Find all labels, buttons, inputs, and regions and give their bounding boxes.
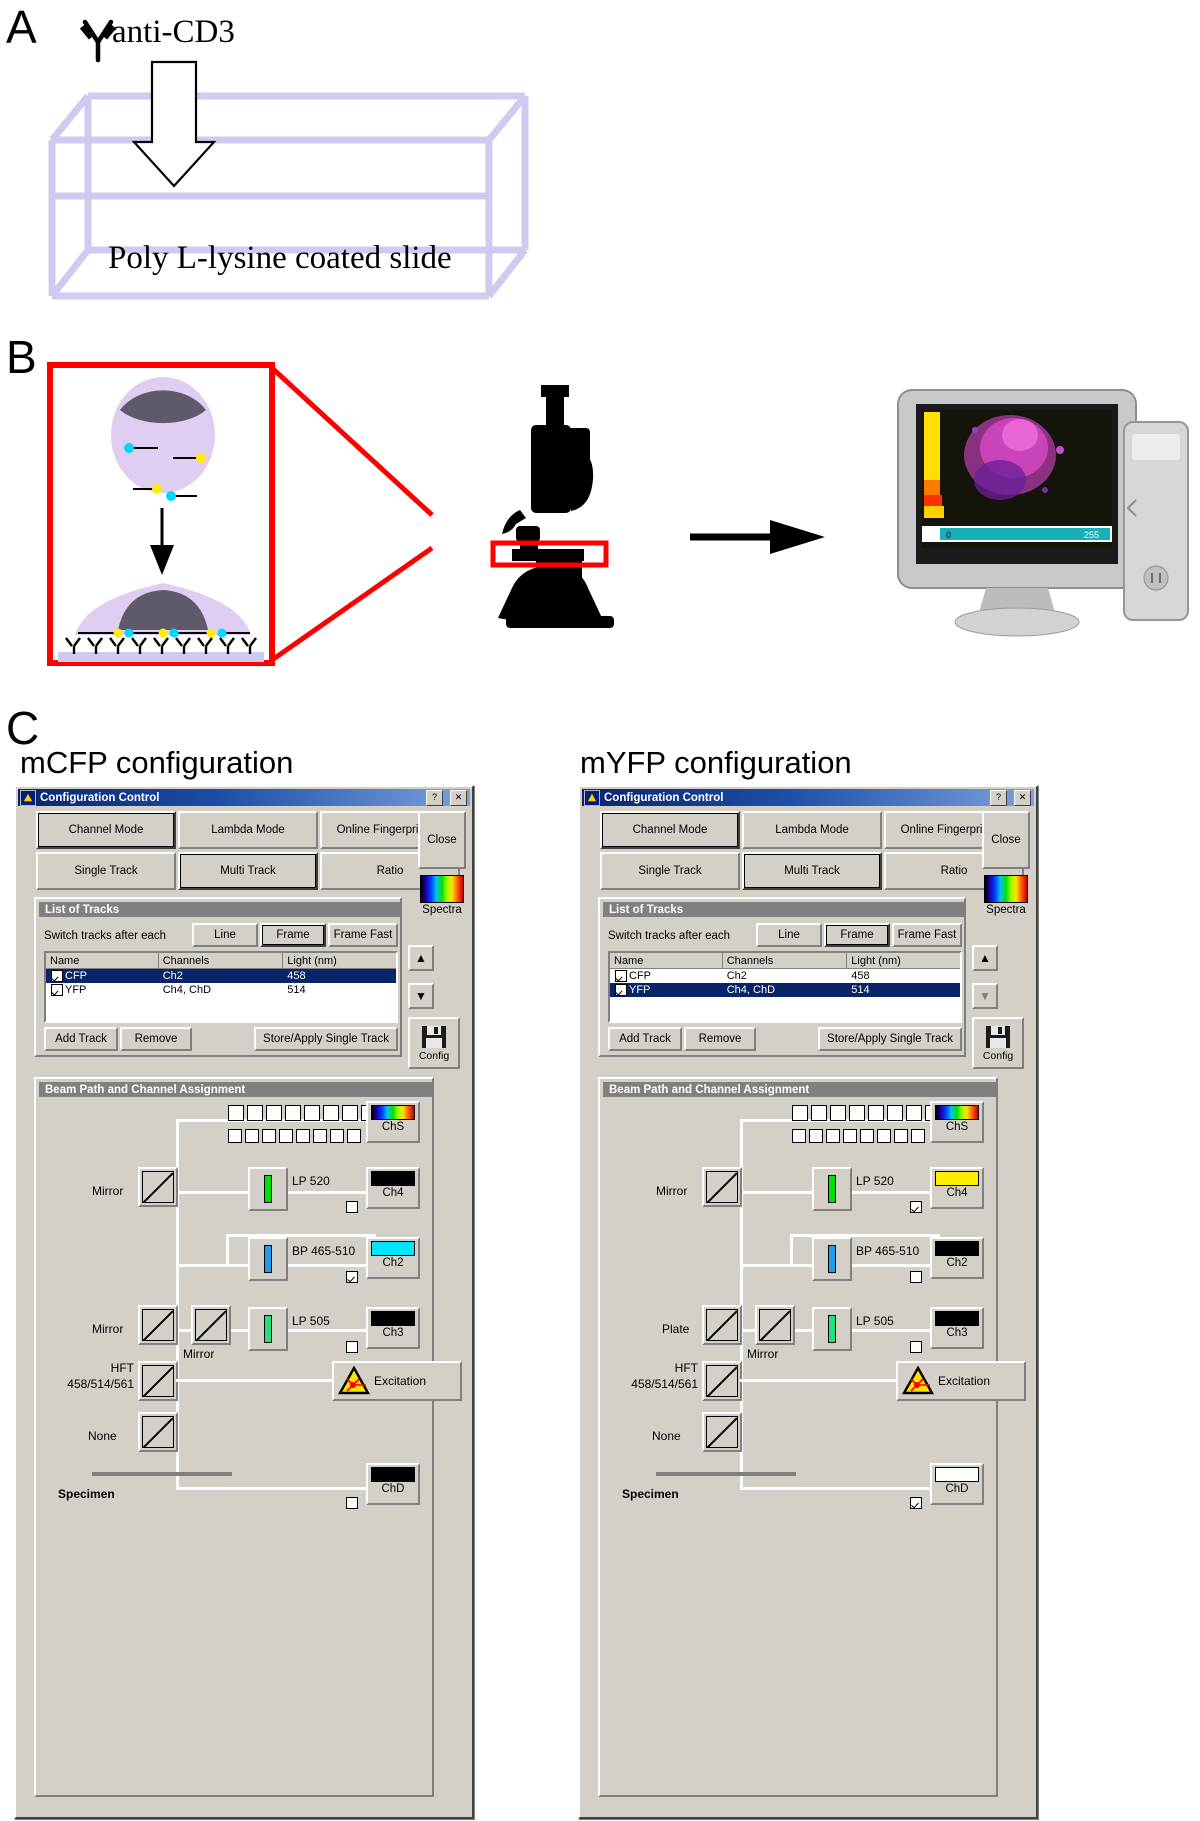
callout-cone [272,368,432,660]
ch2-swatch [935,1241,979,1256]
beam-wire [176,1329,179,1489]
ch3-label: Ch3 [946,1326,967,1340]
ch2-swatch [371,1241,415,1256]
down-arrow-outline-icon [134,62,214,186]
arrow-down-icon[interactable]: ▼ [408,983,434,1009]
mirror-2-label: Mirror [92,1322,123,1336]
tab-single-track[interactable]: Single Track [600,852,740,890]
myfp-window-title: Configuration Control [604,792,723,804]
none-mirror[interactable] [138,1412,178,1452]
close-button-label: Close [991,834,1020,846]
beam-wire [176,1487,386,1490]
tracks-table-header: Name Channels Light (nm) [46,953,396,969]
tab-ratio-label: Ratio [941,865,968,877]
tab-single-track-label: Single Track [638,865,701,877]
filter-lp520-label: LP 520 [856,1174,894,1188]
help-button[interactable]: ? [426,790,443,806]
row-name: CFP [65,970,87,982]
ch4-checkbox[interactable] [910,1201,922,1213]
panel-b-graphic: 0 255 [0,330,1200,710]
add-track-button[interactable]: Add Track [608,1027,682,1051]
ch3-swatch [371,1311,415,1326]
ch4-button[interactable]: Ch4 [930,1167,984,1209]
switch-option-line-label: Line [214,929,236,941]
switch-option-frame[interactable]: Frame [260,923,326,947]
ch2-label: Ch2 [382,1256,403,1270]
close-button-label: Close [427,834,456,846]
filter-bp465-510[interactable] [248,1237,288,1281]
row-name: CFP [629,970,651,982]
tab-channel-mode-label: Channel Mode [633,824,708,836]
tab-lambda-mode-label: Lambda Mode [775,824,849,836]
filter-lp505-label: LP 505 [292,1314,330,1328]
row-checkbox[interactable] [51,984,63,996]
tab-multi-track[interactable]: Multi Track [742,852,882,890]
remove-button[interactable]: Remove [120,1027,192,1051]
row-checkbox[interactable] [615,970,627,982]
switch-option-frame-label: Frame [276,929,309,941]
spectra-button[interactable]: Spectra [982,875,1030,927]
row-light: 458 [283,970,396,982]
close-button[interactable]: Close [982,811,1030,869]
spectra-button-label: Spectra [982,904,1030,916]
tracks-table[interactable]: Name Channels Light (nm) CFP Ch2 458 YFP… [608,951,962,1023]
switch-option-frame-fast[interactable]: Frame Fast [892,923,962,947]
down-arrow-icon [150,508,174,575]
chs-button[interactable]: ChS [930,1101,984,1143]
arrow-up-icon[interactable]: ▲ [408,945,434,971]
table-row[interactable]: CFP Ch2 458 [610,969,960,983]
hft-label-line1: HFT [622,1361,698,1375]
arrow-down-icon[interactable]: ▼ [972,983,998,1009]
tab-ratio-label: Ratio [377,865,404,877]
ch3-label: Ch3 [382,1326,403,1340]
remove-button[interactable]: Remove [684,1027,756,1051]
column-light: Light (nm) [847,953,960,968]
mirror-3-label: Mirror [747,1347,778,1361]
mirror-3[interactable] [191,1305,231,1345]
mirror-3-label: Mirror [183,1347,214,1361]
specimen-bar [656,1472,796,1476]
list-of-tracks-title: List of Tracks [603,902,965,917]
chd-button[interactable]: ChD [930,1463,984,1505]
myfp-titlebar[interactable]: Configuration Control ? ✕ [582,789,1034,806]
close-button[interactable]: Close [418,811,466,869]
switch-option-frame-fast-label: Frame Fast [334,929,393,941]
right-arrow-icon [690,520,825,554]
mirror-2[interactable] [702,1305,742,1345]
scatter-min-label: 0 [946,530,951,540]
mcfp-titlebar[interactable]: Configuration Control ? ✕ [18,789,470,806]
ch2-checkbox[interactable] [910,1271,922,1283]
mcfp-configuration-window[interactable]: Configuration Control ? ✕ Channel Mode L… [14,785,474,1819]
row-checkbox[interactable] [51,970,63,982]
list-of-tracks-group: List of Tracks Switch tracks after each … [34,897,402,1057]
excitation-label: Excitation [374,1374,426,1388]
ch4-label: Ch4 [946,1186,967,1200]
hft-label-line2: 458/514/561 [46,1377,134,1391]
excitation-label: Excitation [938,1374,990,1388]
filter-lp520-label: LP 520 [292,1174,330,1188]
row-light: 514 [847,984,960,996]
store-apply-label: Store/Apply Single Track [827,1033,953,1045]
configuration-control-icon [584,790,600,806]
none-mirror[interactable] [702,1412,742,1452]
chs-checkbox-row[interactable] [792,1129,925,1143]
excitation-button[interactable]: Excitation [896,1361,1026,1401]
add-track-label: Add Track [619,1033,671,1045]
beam-wire [740,1379,915,1382]
laser-hazard-icon [902,1366,934,1396]
ch3-button[interactable]: Ch3 [366,1307,420,1349]
slide-label: Poly L-lysine coated slide [108,240,452,277]
mirror-1[interactable] [138,1167,178,1207]
row-channels: Ch4, ChD [159,984,284,996]
mirror-1-label: Mirror [656,1184,687,1198]
row-light: 458 [847,970,960,982]
row-channels: Ch4, ChD [723,984,848,996]
none-label: None [652,1429,681,1443]
chs-label: ChS [382,1120,404,1134]
tab-single-track[interactable]: Single Track [36,852,176,890]
switch-option-frame-fast-label: Frame Fast [898,929,957,941]
column-channels: Channels [159,953,284,968]
filter-lp505[interactable] [812,1307,852,1351]
column-light: Light (nm) [283,953,396,968]
add-track-label: Add Track [55,1033,107,1045]
chd-checkbox[interactable] [346,1497,358,1509]
chd-label: ChD [381,1482,404,1496]
chd-swatch [935,1467,979,1482]
ch4-button[interactable]: Ch4 [366,1167,420,1209]
row-name: YFP [65,984,86,996]
ch2-button[interactable]: Ch2 [366,1237,420,1279]
close-icon[interactable]: ✕ [1014,790,1031,806]
beam-path-group: Beam Path and Channel Assignment ChS [34,1077,434,1797]
close-icon[interactable]: ✕ [450,790,467,806]
ch2-checkbox[interactable] [346,1271,358,1283]
beam-path-title: Beam Path and Channel Assignment [39,1082,433,1097]
spectra-button-label: Spectra [418,904,466,916]
arrow-up-icon[interactable]: ▲ [972,945,998,971]
beam-wire [740,1329,743,1489]
chd-checkbox[interactable] [910,1497,922,1509]
antibody-label: anti-CD3 [112,14,235,51]
switch-tracks-label: Switch tracks after each [608,925,730,947]
mirror-1[interactable] [702,1167,742,1207]
floppy-disk-icon [421,1025,447,1049]
spectrum-icon [420,875,464,903]
ch4-swatch [935,1171,979,1186]
tab-channel-mode[interactable]: Channel Mode [600,811,740,849]
column-name: Name [46,953,159,968]
specimen-label: Specimen [58,1487,115,1501]
tracks-table-header: Name Channels Light (nm) [610,953,960,969]
config-button-label: Config [983,1050,1013,1062]
switch-option-frame-fast[interactable]: Frame Fast [328,923,398,947]
configuration-control-icon [20,790,36,806]
excitation-button[interactable]: Excitation [332,1361,462,1401]
laser-hazard-icon [338,1366,370,1396]
panel-a: A [0,0,1200,330]
table-row[interactable]: YFP Ch4, ChD 514 [610,983,960,997]
switch-option-frame[interactable]: Frame [824,923,890,947]
ch2-label: Ch2 [946,1256,967,1270]
scatter-max-label: 255 [1084,530,1099,540]
switch-option-line[interactable]: Line [192,923,258,947]
floppy-disk-icon [985,1025,1011,1049]
chs-square-row-top[interactable] [228,1105,377,1121]
filter-bp465-510-label: BP 465-510 [292,1244,355,1258]
beam-wire [740,1119,743,1329]
row-channels: Ch2 [723,970,848,982]
ch3-checkbox[interactable] [346,1341,358,1353]
tab-channel-mode-label: Channel Mode [69,824,144,836]
tab-lambda-mode[interactable]: Lambda Mode [742,811,882,849]
tab-single-track-label: Single Track [74,865,137,877]
mcfp-window-title: Configuration Control [40,792,159,804]
remove-label: Remove [699,1033,742,1045]
filter-lp520[interactable] [812,1167,852,1211]
chs-checkbox-row[interactable] [228,1129,361,1143]
chd-swatch [371,1467,415,1482]
list-of-tracks-title: List of Tracks [39,902,401,917]
config-button[interactable]: Config [972,1017,1024,1069]
filter-bp465-510-label: BP 465-510 [856,1244,919,1258]
spectrum-icon [935,1105,979,1120]
config-button[interactable]: Config [408,1017,460,1069]
table-row[interactable]: YFP Ch4, ChD 514 [46,983,396,997]
beam-wire [790,1234,793,1267]
chd-button[interactable]: ChD [366,1463,420,1505]
antibody-row-icon [66,638,256,654]
beam-wire [176,1379,351,1382]
store-apply-single-track-button[interactable]: Store/Apply Single Track [254,1027,398,1051]
filter-lp505-label: LP 505 [856,1314,894,1328]
ch3-button[interactable]: Ch3 [930,1307,984,1349]
chs-button[interactable]: ChS [366,1101,420,1143]
chd-label: ChD [945,1482,968,1496]
hft-label-line2: 458/514/561 [610,1377,698,1391]
ch4-checkbox[interactable] [346,1201,358,1213]
list-of-tracks-group: List of Tracks Switch tracks after each … [598,897,966,1057]
filter-lp505[interactable] [248,1307,288,1351]
beam-wire [740,1487,950,1490]
mirror-3[interactable] [755,1305,795,1345]
tab-lambda-mode[interactable]: Lambda Mode [178,811,318,849]
switch-tracks-label: Switch tracks after each [44,925,166,947]
beam-wire [226,1234,229,1267]
tab-multi-track[interactable]: Multi Track [178,852,318,890]
tab-multi-track-label: Multi Track [220,865,276,877]
hft-mirror[interactable] [702,1361,742,1401]
specimen-label: Specimen [622,1487,679,1501]
remove-label: Remove [135,1033,178,1045]
store-apply-single-track-button[interactable]: Store/Apply Single Track [818,1027,962,1051]
spectrum-icon [984,875,1028,903]
none-label: None [88,1429,117,1443]
tracks-table[interactable]: Name Channels Light (nm) CFP Ch2 458 YFP… [44,951,398,1023]
switch-option-line[interactable]: Line [756,923,822,947]
column-name: Name [610,953,723,968]
column-channels: Channels [723,953,848,968]
help-button[interactable]: ? [990,790,1007,806]
mcfp-caption: mCFP configuration [20,745,293,781]
mirror-1-label: Mirror [92,1184,123,1198]
ch2-button[interactable]: Ch2 [930,1237,984,1279]
microscope-icon [498,385,614,628]
beam-path-title: Beam Path and Channel Assignment [603,1082,997,1097]
tab-channel-mode[interactable]: Channel Mode [36,811,176,849]
hft-label-line1: HFT [58,1361,134,1375]
row-name: YFP [629,984,650,996]
switch-option-frame-label: Frame [840,929,873,941]
myfp-configuration-window[interactable]: Configuration Control ? ✕ Channel Mode L… [578,785,1038,1819]
tab-multi-track-label: Multi Track [784,865,840,877]
add-track-button[interactable]: Add Track [44,1027,118,1051]
spectrum-icon [371,1105,415,1120]
ch4-label: Ch4 [382,1186,403,1200]
mirror-2-label: Plate [662,1322,689,1336]
chs-label: ChS [946,1120,968,1134]
filter-lp520[interactable] [248,1167,288,1211]
panel-b: B [0,330,1200,710]
config-button-label: Config [419,1050,449,1062]
table-row[interactable]: CFP Ch2 458 [46,969,396,983]
spectra-button[interactable]: Spectra [418,875,466,927]
row-channels: Ch2 [159,970,284,982]
mirror-2[interactable] [138,1305,178,1345]
chs-square-row-top[interactable] [792,1105,941,1121]
ch3-checkbox[interactable] [910,1341,922,1353]
ch3-swatch [935,1311,979,1326]
switch-option-line-label: Line [778,929,800,941]
beam-wire [176,1119,179,1329]
row-checkbox[interactable] [615,984,627,996]
filter-bp465-510[interactable] [812,1237,852,1281]
specimen-bar [92,1472,232,1476]
myfp-caption: mYFP configuration [580,745,852,781]
beam-path-group: Beam Path and Channel Assignment ChS Mir… [598,1077,998,1797]
hft-mirror[interactable] [138,1361,178,1401]
panel-c: C mCFP configuration mYFP configuration … [0,705,1200,1821]
ch4-swatch [371,1171,415,1186]
computer-monitor-icon: 0 255 [898,390,1188,636]
tab-lambda-mode-label: Lambda Mode [211,824,285,836]
row-light: 514 [283,984,396,996]
store-apply-label: Store/Apply Single Track [263,1033,389,1045]
